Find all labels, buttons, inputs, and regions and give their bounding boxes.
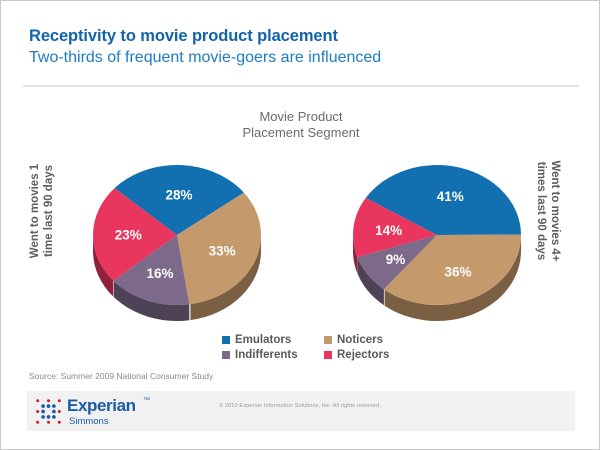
page-title: Receptivity to movie product placement — [29, 27, 573, 46]
pie-slice-label-rejectors: 14% — [375, 223, 402, 238]
legend-item-indifferents[interactable]: Indifferents — [222, 349, 324, 361]
pie-chart-left-svg: 28%33%16%23% — [89, 161, 265, 329]
experian-dot-matrix-icon — [33, 396, 63, 426]
pie-slice-label-emulators: 28% — [166, 187, 193, 202]
pie-chart-right-svg: 41%36%9%14% — [349, 161, 525, 329]
header: Receptivity to movie product placement T… — [29, 27, 573, 67]
legend-swatch-icon — [324, 351, 332, 359]
pie-slice-label-noticers: 36% — [445, 265, 472, 280]
pie-slice-label-indifferents: 9% — [386, 252, 406, 267]
legend-swatch-icon — [222, 351, 230, 359]
chart-title-line-1: Movie Product — [1, 109, 600, 125]
chart-title: Movie Product Placement Segment — [1, 109, 600, 141]
right-pie-axis-label-line-1: Went to movies 4+ — [548, 147, 562, 275]
trademark-icon: ™ — [143, 397, 150, 404]
pie-slice-label-noticers: 33% — [209, 243, 236, 258]
right-pie-axis-label-line-2: times last 90 days — [534, 147, 548, 275]
legend-item-rejectors[interactable]: Rejectors — [324, 349, 422, 361]
pie-chart-left: 28%33%16%23% — [89, 161, 265, 329]
left-pie-axis-label-line-2: time last 90 days — [42, 147, 56, 275]
legend-swatch-icon — [222, 336, 230, 344]
pie-slice-label-indifferents: 16% — [147, 266, 174, 281]
experian-logo: Experian ™ Simmons — [33, 394, 183, 432]
page-subtitle: Two-thirds of frequent movie-goers are i… — [29, 48, 573, 67]
chart-legend: EmulatorsNoticersIndifferentsRejectors — [222, 334, 422, 361]
legend-label: Noticers — [337, 334, 383, 346]
legend-item-noticers[interactable]: Noticers — [324, 334, 422, 346]
pie-slice-label-rejectors: 23% — [115, 228, 142, 243]
pie-slice-label-emulators: 41% — [437, 189, 464, 204]
slide-canvas: Receptivity to movie product placement T… — [0, 0, 600, 450]
left-pie-axis-label: Went to movies 1 time last 90 days — [28, 147, 56, 275]
legend-label: Emulators — [235, 334, 291, 346]
legend-label: Rejectors — [337, 349, 389, 361]
header-divider — [23, 85, 579, 87]
source-note: Source: Summer 2009 National Consumer St… — [29, 371, 213, 381]
copyright-text: © 2010 Experian Information Solutions, I… — [219, 403, 381, 409]
legend-item-emulators[interactable]: Emulators — [222, 334, 324, 346]
simmons-wordmark: Simmons — [69, 416, 109, 427]
legend-label: Indifferents — [235, 349, 298, 361]
pie-chart-right: 41%36%9%14% — [349, 161, 525, 329]
right-pie-axis-label: Went to movies 4+ times last 90 days — [534, 147, 562, 275]
legend-swatch-icon — [324, 336, 332, 344]
experian-wordmark: Experian — [67, 396, 136, 416]
left-pie-axis-label-line-1: Went to movies 1 — [28, 147, 42, 275]
chart-title-line-2: Placement Segment — [1, 125, 600, 141]
